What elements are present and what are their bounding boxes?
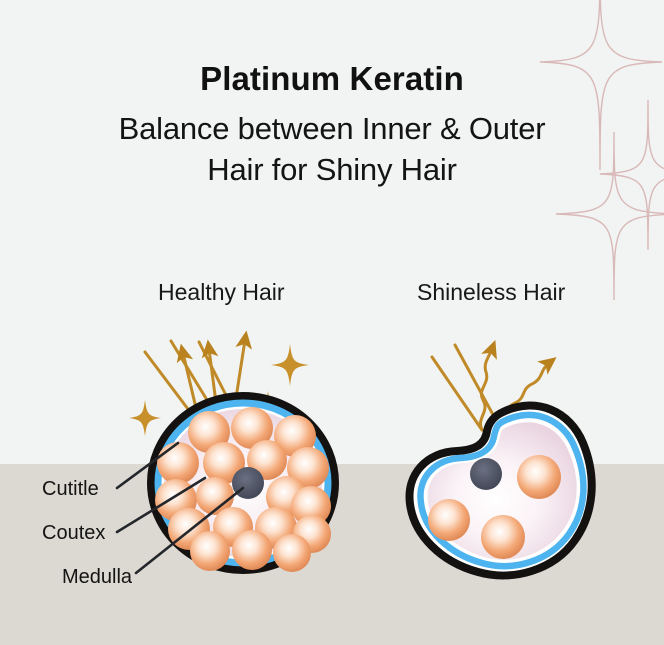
annotation-label-coutex: Coutex <box>42 522 105 545</box>
cortex-cell <box>273 534 311 572</box>
medulla-core <box>470 458 502 490</box>
healthy-hair-figure <box>117 340 335 573</box>
cortex-cell <box>428 499 470 541</box>
infographic-canvas: Platinum Keratin Balance between Inner &… <box>0 0 664 645</box>
cortex-cell <box>190 531 230 571</box>
cortex-cell <box>232 530 272 570</box>
annotation-label-medulla: Medulla <box>62 566 132 589</box>
cortex-cell <box>157 442 199 484</box>
cortex-cell <box>481 515 525 559</box>
shineless-hair-figure <box>410 345 592 575</box>
cortex-cell <box>517 455 561 499</box>
sparkle-icon <box>129 400 161 436</box>
annotation-label-cutitle: Cutitle <box>42 478 99 501</box>
sparkle-icon <box>271 344 309 386</box>
hair-cross-section-illustration <box>0 0 664 645</box>
